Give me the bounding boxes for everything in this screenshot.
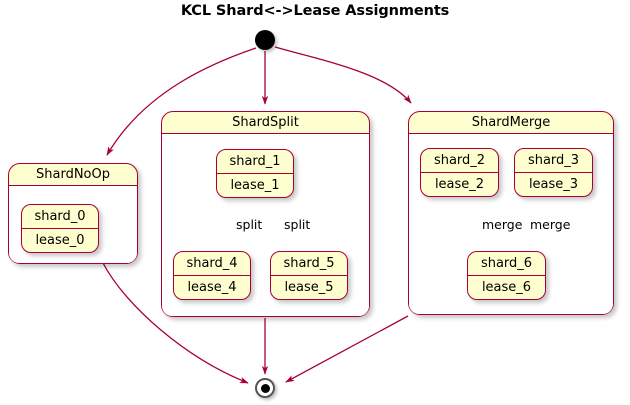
state-shard-6[interactable]: shard_6 lease_6 <box>467 251 546 300</box>
state-shard-5[interactable]: shard_5 lease_5 <box>270 251 348 300</box>
group-state-shardsplit[interactable]: ShardSplit shard_1 lease_1 shard_4 lease… <box>161 111 370 317</box>
state-shard-4[interactable]: shard_4 lease_4 <box>173 251 251 300</box>
group-title-shardmerge: ShardMerge <box>409 112 613 133</box>
state-shard-5-shard: shard_5 <box>271 252 347 276</box>
diagram-canvas: KCL Shard<->Lease Assignments <box>0 0 630 405</box>
state-shard-4-shard: shard_4 <box>174 252 250 276</box>
state-shard-6-shard: shard_6 <box>468 252 545 276</box>
state-shard-3[interactable]: shard_3 lease_3 <box>514 148 593 197</box>
state-shard-0-shard: shard_0 <box>22 205 98 229</box>
state-shard-6-lease: lease_6 <box>468 276 545 300</box>
end-state <box>255 378 275 398</box>
edge-label-merge-left: merge <box>482 217 522 232</box>
state-shard-0-lease: lease_0 <box>22 229 98 253</box>
group-state-shardnoop[interactable]: ShardNoOp shard_0 lease_0 <box>8 163 138 264</box>
state-shard-2-lease: lease_2 <box>421 173 498 197</box>
state-shard-4-lease: lease_4 <box>174 276 250 300</box>
state-shard-5-lease: lease_5 <box>271 276 347 300</box>
edge-start-to-shardmerge <box>275 47 411 103</box>
state-shard-3-shard: shard_3 <box>515 149 592 173</box>
group-title-shardnoop: ShardNoOp <box>9 164 137 185</box>
state-shard-0[interactable]: shard_0 lease_0 <box>21 204 99 253</box>
state-shard-1-lease: lease_1 <box>217 174 293 198</box>
edge-label-split-right: split <box>284 217 310 232</box>
end-state-inner <box>261 384 270 393</box>
group-state-shardmerge[interactable]: ShardMerge shard_2 lease_2 shard_3 lease… <box>408 111 614 315</box>
edge-label-merge-right: merge <box>530 217 570 232</box>
edge-label-split-left: split <box>236 217 262 232</box>
state-shard-2-shard: shard_2 <box>421 149 498 173</box>
start-state <box>255 30 275 50</box>
state-shard-1[interactable]: shard_1 lease_1 <box>216 149 294 198</box>
state-shard-3-lease: lease_3 <box>515 173 592 197</box>
state-shard-2[interactable]: shard_2 lease_2 <box>420 148 499 197</box>
edge-shardmerge-to-end <box>286 316 408 382</box>
state-shard-1-shard: shard_1 <box>217 150 293 174</box>
group-title-shardsplit: ShardSplit <box>162 112 369 133</box>
